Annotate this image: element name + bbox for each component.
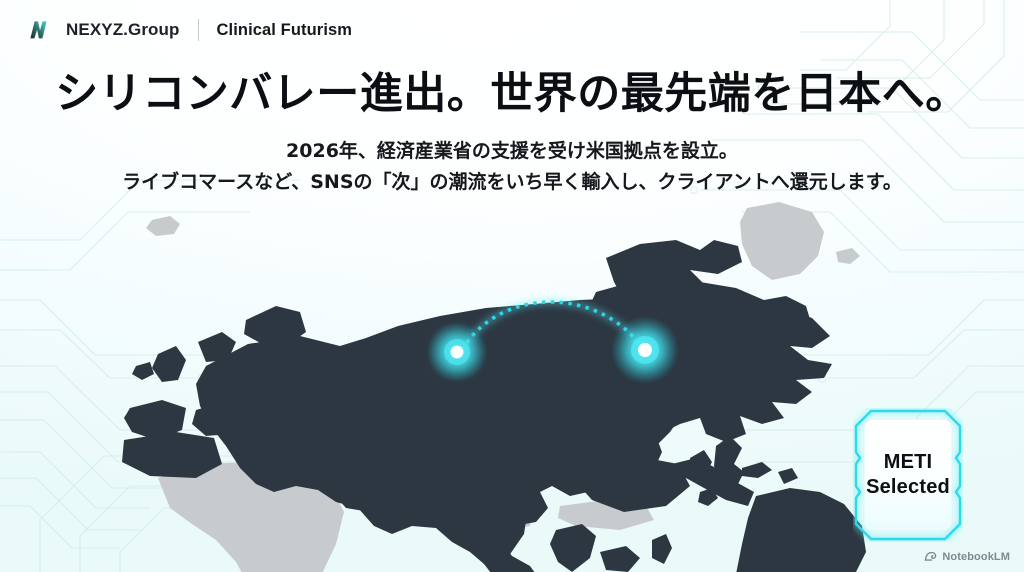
nexyz-n-logo-icon xyxy=(28,18,52,42)
brand-name: NEXYZ.Group xyxy=(66,20,180,40)
badge-line-2: Selected xyxy=(866,476,950,500)
header-bar: NEXYZ.Group Clinical Futurism xyxy=(28,18,352,42)
slide-root: NEXYZ.Group Clinical Futurism シリコンバレー進出。… xyxy=(0,0,1024,572)
header-tagline: Clinical Futurism xyxy=(217,21,353,40)
subtitle-line-2: ライブコマースなど、SNSの「次」の潮流をいち早く輸入し、クライアントへ還元しま… xyxy=(0,167,1024,198)
header-divider xyxy=(198,19,199,41)
watermark-label: NotebookLM xyxy=(942,551,1010,563)
notebooklm-icon xyxy=(924,550,937,563)
badge-line-1: METI xyxy=(884,451,933,475)
subtitle-line-1: 2026年、経済産業省の支援を受け米国拠点を設立。 xyxy=(0,136,1024,167)
page-title: シリコンバレー進出。世界の最先端を日本へ。 xyxy=(0,70,1024,119)
map-node-japan xyxy=(427,322,487,382)
notebooklm-watermark: NotebookLM xyxy=(924,550,1010,563)
status-badge: METI Selected xyxy=(853,408,963,542)
map-node-usa xyxy=(611,316,679,384)
badge-label: METI Selected xyxy=(853,408,963,542)
page-subtitle: 2026年、経済産業省の支援を受け米国拠点を設立。 ライブコマースなど、SNSの… xyxy=(0,136,1024,198)
